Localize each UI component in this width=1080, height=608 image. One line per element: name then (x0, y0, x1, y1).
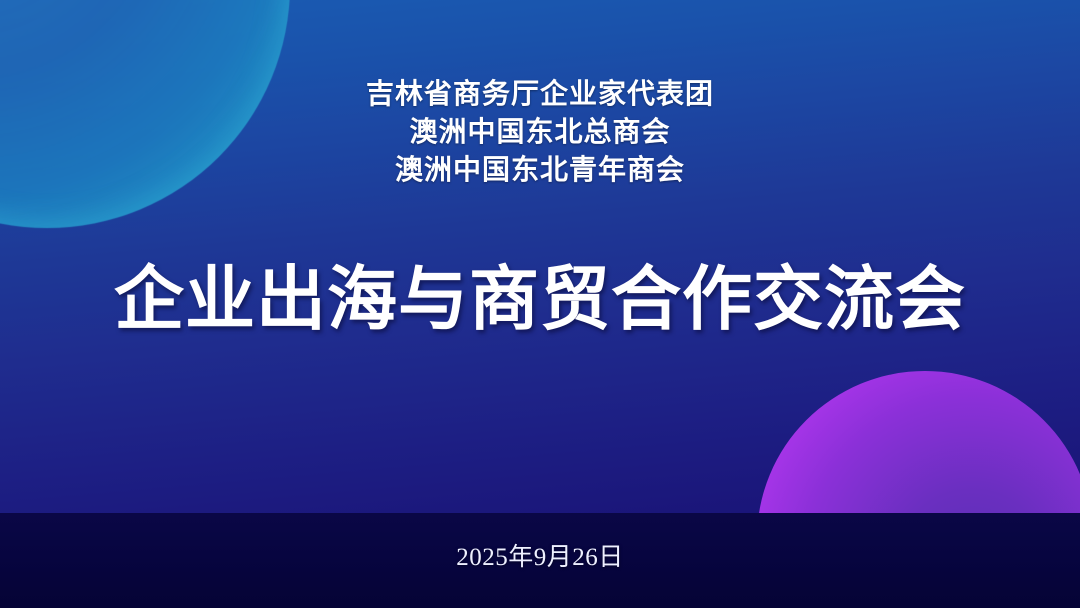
slide-content: 吉林省商务厅企业家代表团 澳洲中国东北总商会 澳洲中国东北青年商会 企业出海与商… (0, 0, 1080, 608)
organizer-block: 吉林省商务厅企业家代表团 澳洲中国东北总商会 澳洲中国东北青年商会 (0, 76, 1080, 190)
page-title: 企业出海与商贸合作交流会 (0, 255, 1080, 343)
organizer-line-1: 吉林省商务厅企业家代表团 (0, 76, 1080, 114)
title-slide: 吉林省商务厅企业家代表团 澳洲中国东北总商会 澳洲中国东北青年商会 企业出海与商… (0, 0, 1080, 608)
event-date: 2025年9月26日 (0, 542, 1080, 574)
organizer-line-3: 澳洲中国东北青年商会 (0, 152, 1080, 190)
organizer-line-2: 澳洲中国东北总商会 (0, 114, 1080, 152)
